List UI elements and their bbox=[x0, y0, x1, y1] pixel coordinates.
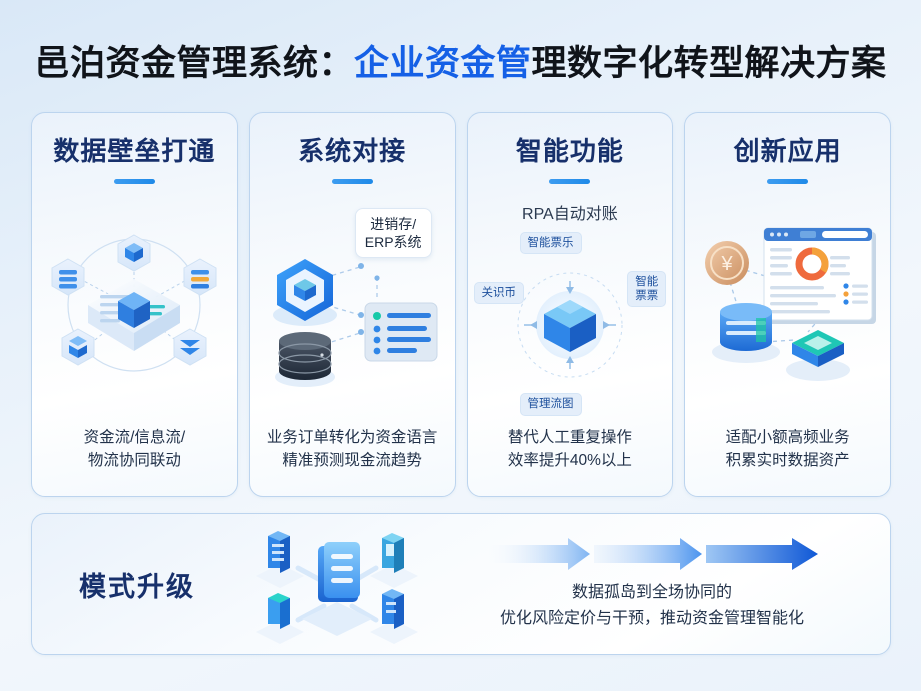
pill-left: 关识币 bbox=[474, 282, 525, 304]
pill-bottom: 管理流图 bbox=[520, 393, 582, 415]
bottom-panel-title: 模式升级 bbox=[32, 565, 242, 604]
card-title: 智能功能 bbox=[516, 137, 624, 166]
card-title: 创新应用 bbox=[734, 137, 842, 166]
isometric-buildings-network-icon bbox=[242, 524, 432, 644]
mode-upgrade-panel[interactable]: 模式升级 bbox=[31, 513, 891, 655]
card-title: 系统对接 bbox=[298, 137, 406, 166]
svg-text:¥: ¥ bbox=[721, 253, 734, 275]
intelligent-hub-diagram-icon: 智能票乐 关识币 智能 票票 管理流图 bbox=[468, 224, 673, 426]
dashboard-coin-database-diagram-icon: ¥ bbox=[685, 184, 890, 426]
feature-card-row: 数据壁垒打通 bbox=[31, 112, 891, 497]
page-title: 邑泊资金管理系统：企业资金管理数字化转型解决方案 bbox=[0, 36, 921, 90]
feature-card-system-integration[interactable]: 系统对接 bbox=[249, 112, 456, 497]
hex-network-diagram-icon bbox=[32, 184, 237, 426]
feature-card-innovation[interactable]: 创新应用 bbox=[684, 112, 891, 497]
feature-card-intelligent-function[interactable]: 智能功能 RPA自动对账 bbox=[467, 112, 674, 497]
card-subtitle: RPA自动对账 bbox=[522, 200, 618, 224]
bottom-panel-description: 数据孤岛到全场协同的 优化风险定价与干预，推动资金管理智能化 bbox=[500, 580, 804, 631]
title-suffix: 理数字化转型解决方案 bbox=[532, 44, 887, 83]
title-highlight: 企业资金管 bbox=[354, 44, 532, 83]
pill-right: 智能 票票 bbox=[627, 271, 666, 308]
title-prefix: 邑泊资金管理系统： bbox=[34, 44, 354, 83]
card-footer-text: 资金流/信息流/ 物流协同联动 bbox=[76, 426, 194, 497]
progress-arrows-icon bbox=[482, 536, 822, 572]
pill-top: 智能票乐 bbox=[520, 232, 582, 254]
card-rule bbox=[549, 179, 590, 184]
erp-label-box: 进销存/ ERP系统 bbox=[355, 208, 432, 258]
feature-card-data-barrier[interactable]: 数据壁垒打通 bbox=[31, 112, 238, 497]
bottom-panel-right: 数据孤岛到全场协同的 优化风险定价与干预，推动资金管理智能化 bbox=[432, 536, 890, 631]
system-integration-diagram-icon: 进销存/ ERP系统 bbox=[250, 184, 455, 426]
card-footer-text: 适配小额高频业务 积累实时数据资产 bbox=[718, 426, 858, 497]
card-footer-text: 替代人工重复操作 效率提升40%以上 bbox=[500, 426, 640, 497]
card-title: 数据壁垒打通 bbox=[53, 137, 215, 166]
slide-root: 邑泊资金管理系统：企业资金管理数字化转型解决方案 数据壁垒打通 bbox=[0, 0, 921, 691]
card-footer-text: 业务订单转化为资金语言 精准预测现金流趋势 bbox=[259, 426, 446, 497]
